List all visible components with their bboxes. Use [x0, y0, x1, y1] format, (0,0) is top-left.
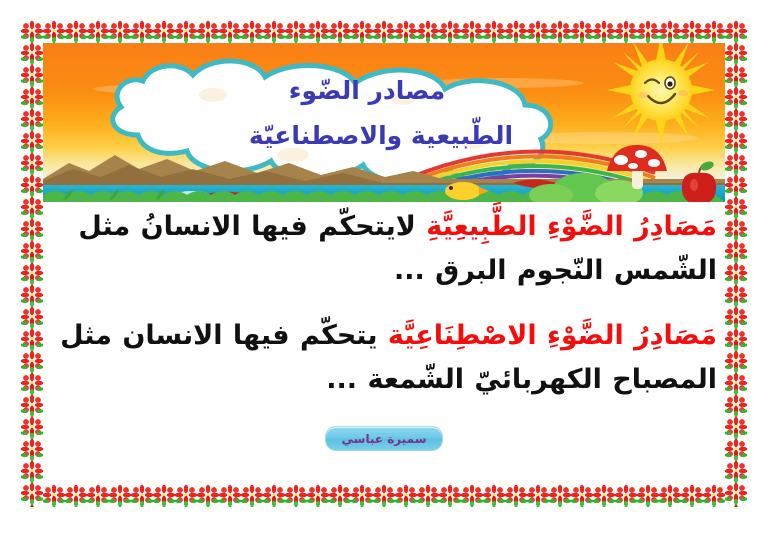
author-name: سميرة عباسي	[342, 432, 427, 446]
natural-light-heading: مَصَادِرُ الضَّوْءِ الطَّبِيعِيَّةِ	[426, 211, 717, 242]
banner-scene-icon	[43, 43, 725, 202]
author-badge: سميرة عباسي	[325, 426, 443, 451]
frame-border-left-icon	[21, 21, 43, 507]
worksheet-page: مصادر الضّوء الطّبيعية والاصطناعيّة مَصَ…	[0, 0, 768, 543]
lesson-content: مَصَادِرُ الضَّوْءِ الطَّبِيعِيَّةِ لايت…	[43, 205, 725, 410]
paragraph-artificial-light-sources: مَصَادِرُ الضَّوْءِ الاصْطِنَاعِيَّة يتح…	[49, 314, 719, 401]
header-illustration-banner: مصادر الضّوء الطّبيعية والاصطناعيّة	[43, 43, 725, 202]
frame-border-top-icon	[21, 21, 747, 43]
frame-border-bottom-icon	[21, 485, 747, 507]
decorative-flower-frame: مصادر الضّوء الطّبيعية والاصطناعيّة مَصَ…	[21, 21, 747, 507]
paragraph-natural-light-sources: مَصَادِرُ الضَّوْءِ الطَّبِيعِيَّةِ لايت…	[49, 205, 719, 292]
frame-inner-area: مصادر الضّوء الطّبيعية والاصطناعيّة مَصَ…	[43, 43, 725, 485]
artificial-light-heading: مَصَادِرُ الضَّوْءِ الاصْطِنَاعِيَّة	[388, 320, 717, 351]
frame-border-right-icon	[725, 21, 747, 507]
